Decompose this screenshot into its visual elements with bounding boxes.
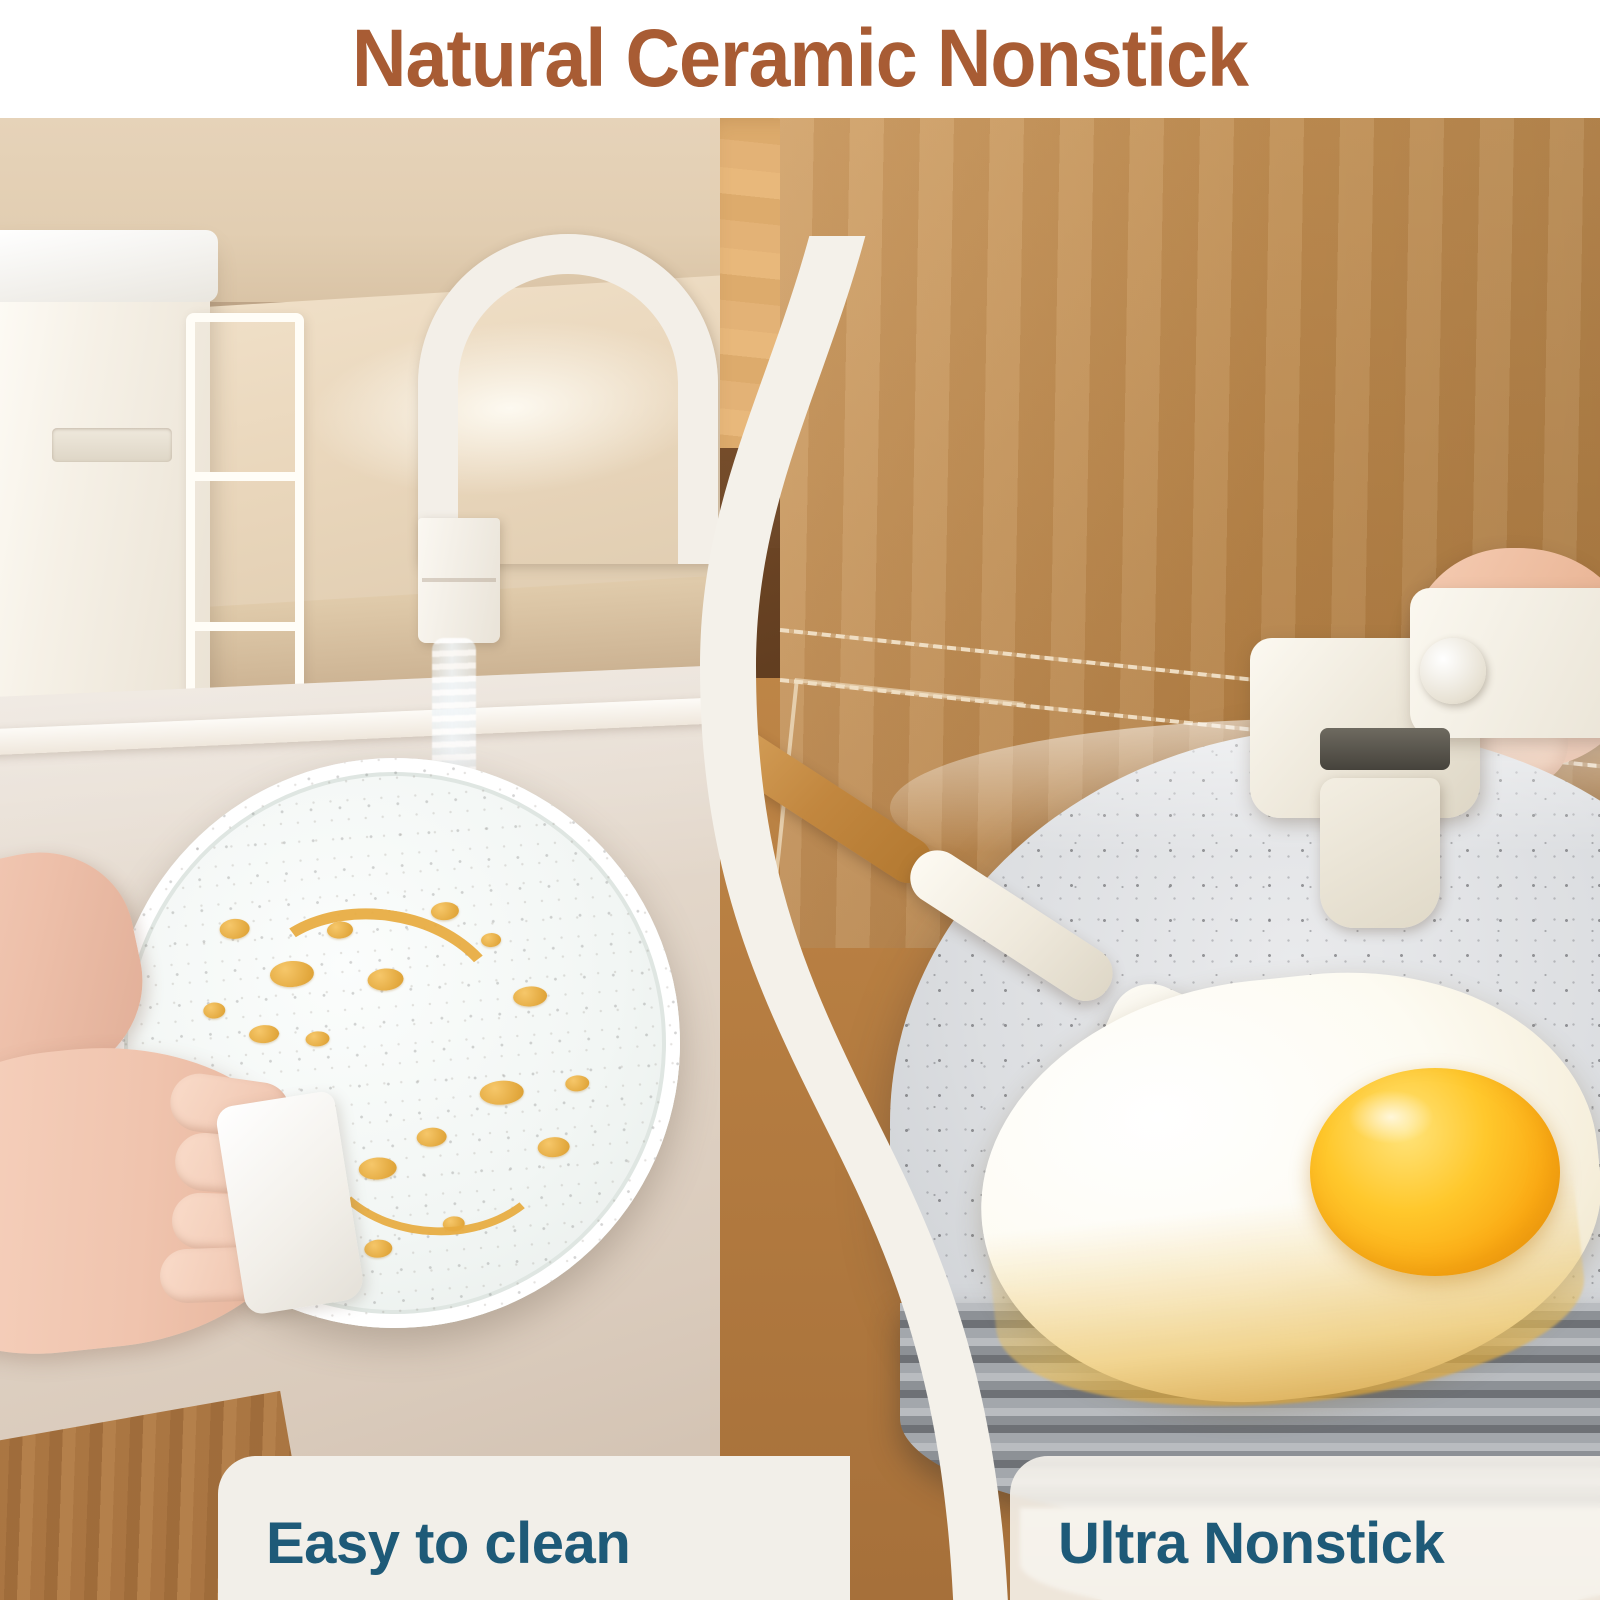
- egg-yolk: [1310, 1068, 1560, 1276]
- caption-title: Ultra Nonstick: [1058, 1514, 1600, 1574]
- header-band: Natural Ceramic Nonstick: [0, 0, 1600, 118]
- faucet-gooseneck: [418, 234, 718, 564]
- handle-release-knob: [1420, 638, 1486, 704]
- caption-card-ultra-nonstick: Ultra Nonstick Fge Slides Orr!: [1010, 1456, 1600, 1600]
- yolk-highlight: [1348, 1090, 1434, 1144]
- caption-title: Easy to clean: [266, 1514, 850, 1574]
- faucet-spout: [418, 518, 500, 643]
- handle-clamp-jaw: [1320, 728, 1450, 770]
- photo-right-ultra-nonstick: [720, 118, 1600, 1600]
- wire-rack: [186, 313, 304, 733]
- handle-clamp-foot: [1320, 778, 1440, 928]
- container-label-slot: [52, 428, 172, 462]
- caption-card-easy-to-clean: Easy to clean Saving Time On Clean-Up: [218, 1456, 850, 1600]
- photo-stage: Easy to clean Saving Time On Clean-Up Ul…: [0, 118, 1600, 1600]
- page-title: Natural Ceramic Nonstick: [352, 18, 1248, 100]
- container-lid: [0, 230, 218, 302]
- white-container: [0, 236, 210, 736]
